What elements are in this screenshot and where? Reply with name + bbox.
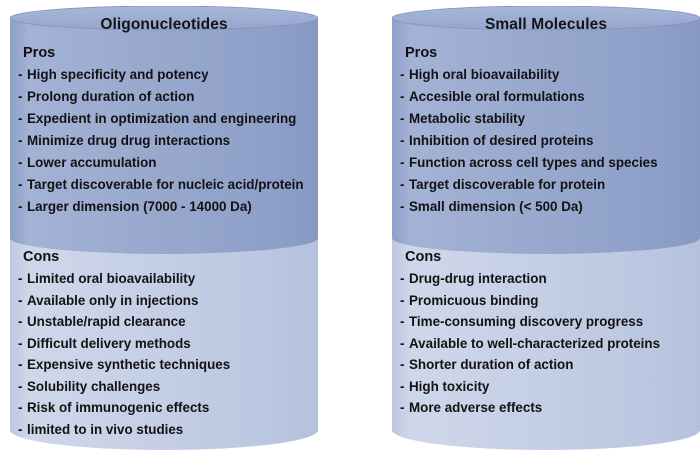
list-item-label: Prolong duration of action <box>27 86 194 108</box>
cons-list-small-molecules: - Drug-drug interaction - Promicuous bin… <box>400 268 694 419</box>
list-item-label: Available to well-characterized proteins <box>409 333 660 355</box>
list-item: - limited to in vivo studies <box>18 419 312 441</box>
bullet-dash-icon: - <box>400 311 409 333</box>
list-item: - Unstable/rapid clearance <box>18 311 312 333</box>
list-item-label: Small dimension (< 500 Da) <box>409 196 583 218</box>
list-item-label: Unstable/rapid clearance <box>27 311 186 333</box>
list-item-label: Shorter duration of action <box>409 354 573 376</box>
bullet-dash-icon: - <box>400 130 409 152</box>
list-item: - Promicuous binding <box>400 290 694 312</box>
list-item-label: Limited oral bioavailability <box>27 268 195 290</box>
comparison-figure: Oligonucleotides Pros - High specificity… <box>0 0 700 460</box>
bullet-dash-icon: - <box>18 290 27 312</box>
list-item: - Solubility challenges <box>18 376 312 398</box>
cons-section-small-molecules: Cons - Drug-drug interaction - Promicuou… <box>400 248 694 419</box>
list-item: - More adverse effects <box>400 397 694 419</box>
list-item: - Accesible oral formulations <box>400 86 694 108</box>
bullet-dash-icon: - <box>400 86 409 108</box>
bullet-dash-icon: - <box>18 419 27 441</box>
bullet-dash-icon: - <box>18 268 27 290</box>
cylinder-small-molecules: Small Molecules Pros - High oral bioavai… <box>392 6 700 454</box>
pros-section-small-molecules: Pros - High oral bioavailability - Acces… <box>400 44 694 218</box>
list-item-label: High specificity and potency <box>27 64 209 86</box>
cylinder-content-oligonucleotides: Oligonucleotides Pros - High specificity… <box>10 6 318 454</box>
list-item: - Target discoverable for protein <box>400 174 694 196</box>
bullet-dash-icon: - <box>18 354 27 376</box>
list-item-label: Solubility challenges <box>27 376 160 398</box>
bullet-dash-icon: - <box>400 196 409 218</box>
cylinder-oligonucleotides: Oligonucleotides Pros - High specificity… <box>10 6 318 454</box>
list-item-label: Target discoverable for protein <box>409 174 605 196</box>
pros-section-oligonucleotides: Pros - High specificity and potency - Pr… <box>18 44 312 218</box>
list-item: - Metabolic stability <box>400 108 694 130</box>
list-item: - Lower accumulation <box>18 152 312 174</box>
list-item-label: Risk of immunogenic effects <box>27 397 209 419</box>
list-item: - Drug-drug interaction <box>400 268 694 290</box>
bullet-dash-icon: - <box>400 64 409 86</box>
bullet-dash-icon: - <box>400 268 409 290</box>
list-item-label: Function across cell types and species <box>409 152 658 174</box>
list-item-label: Minimize drug drug interactions <box>27 130 230 152</box>
bullet-dash-icon: - <box>18 397 27 419</box>
list-item-label: Accesible oral formulations <box>409 86 585 108</box>
list-item: - Minimize drug drug interactions <box>18 130 312 152</box>
bullet-dash-icon: - <box>18 311 27 333</box>
list-item-label: Promicuous binding <box>409 290 538 312</box>
list-item-label: Target discoverable for nucleic acid/pro… <box>27 174 304 196</box>
bullet-dash-icon: - <box>400 108 409 130</box>
list-item-label: Available only in injections <box>27 290 198 312</box>
bullet-dash-icon: - <box>400 174 409 196</box>
list-item-label: Larger dimension (7000 - 14000 Da) <box>27 196 252 218</box>
bullet-dash-icon: - <box>400 397 409 419</box>
bullet-dash-icon: - <box>18 152 27 174</box>
bullet-dash-icon: - <box>400 376 409 398</box>
bullet-dash-icon: - <box>18 196 27 218</box>
cylinder-title-small-molecules: Small Molecules <box>392 16 700 34</box>
bullet-dash-icon: - <box>18 86 27 108</box>
bullet-dash-icon: - <box>18 130 27 152</box>
list-item-label: High oral bioavailability <box>409 64 559 86</box>
list-item: - Difficult delivery methods <box>18 333 312 355</box>
pros-list-oligonucleotides: - High specificity and potency - Prolong… <box>18 64 312 218</box>
list-item-label: More adverse effects <box>409 397 542 419</box>
list-item: - Small dimension (< 500 Da) <box>400 196 694 218</box>
cons-section-oligonucleotides: Cons - Limited oral bioavailability - Av… <box>18 248 312 440</box>
list-item-label: Drug-drug interaction <box>409 268 547 290</box>
list-item-label: Difficult delivery methods <box>27 333 191 355</box>
list-item: - Available to well-characterized protei… <box>400 333 694 355</box>
list-item: - Available only in injections <box>18 290 312 312</box>
list-item: - Target discoverable for nucleic acid/p… <box>18 174 312 196</box>
list-item: - High toxicity <box>400 376 694 398</box>
cons-heading-small-molecules: Cons <box>405 248 694 266</box>
list-item: - Function across cell types and species <box>400 152 694 174</box>
list-item-label: limited to in vivo studies <box>27 419 183 441</box>
list-item: - Shorter duration of action <box>400 354 694 376</box>
list-item-label: Expedient in optimization and engineerin… <box>27 108 296 130</box>
list-item-label: Expensive synthetic techniques <box>27 354 230 376</box>
list-item: - High oral bioavailability <box>400 64 694 86</box>
list-item-label: Metabolic stability <box>409 108 525 130</box>
list-item: - High specificity and potency <box>18 64 312 86</box>
bullet-dash-icon: - <box>18 64 27 86</box>
bullet-dash-icon: - <box>400 354 409 376</box>
list-item-label: High toxicity <box>409 376 489 398</box>
pros-list-small-molecules: - High oral bioavailability - Accesible … <box>400 64 694 218</box>
bullet-dash-icon: - <box>18 108 27 130</box>
cylinder-title-oligonucleotides: Oligonucleotides <box>10 16 318 34</box>
list-item: - Time-consuming discovery progress <box>400 311 694 333</box>
list-item: - Inhibition of desired proteins <box>400 130 694 152</box>
list-item: - Risk of immunogenic effects <box>18 397 312 419</box>
bullet-dash-icon: - <box>400 333 409 355</box>
cylinder-content-small-molecules: Small Molecules Pros - High oral bioavai… <box>392 6 700 454</box>
bullet-dash-icon: - <box>18 376 27 398</box>
cons-list-oligonucleotides: - Limited oral bioavailability - Availab… <box>18 268 312 440</box>
pros-heading-oligonucleotides: Pros <box>23 44 312 62</box>
bullet-dash-icon: - <box>18 174 27 196</box>
pros-heading-small-molecules: Pros <box>405 44 694 62</box>
list-item: - Expedient in optimization and engineer… <box>18 108 312 130</box>
list-item: - Prolong duration of action <box>18 86 312 108</box>
bullet-dash-icon: - <box>400 152 409 174</box>
list-item-label: Time-consuming discovery progress <box>409 311 643 333</box>
list-item: - Limited oral bioavailability <box>18 268 312 290</box>
list-item: - Larger dimension (7000 - 14000 Da) <box>18 196 312 218</box>
list-item-label: Lower accumulation <box>27 152 156 174</box>
cons-heading-oligonucleotides: Cons <box>23 248 312 266</box>
bullet-dash-icon: - <box>400 290 409 312</box>
list-item: - Expensive synthetic techniques <box>18 354 312 376</box>
list-item-label: Inhibition of desired proteins <box>409 130 594 152</box>
bullet-dash-icon: - <box>18 333 27 355</box>
